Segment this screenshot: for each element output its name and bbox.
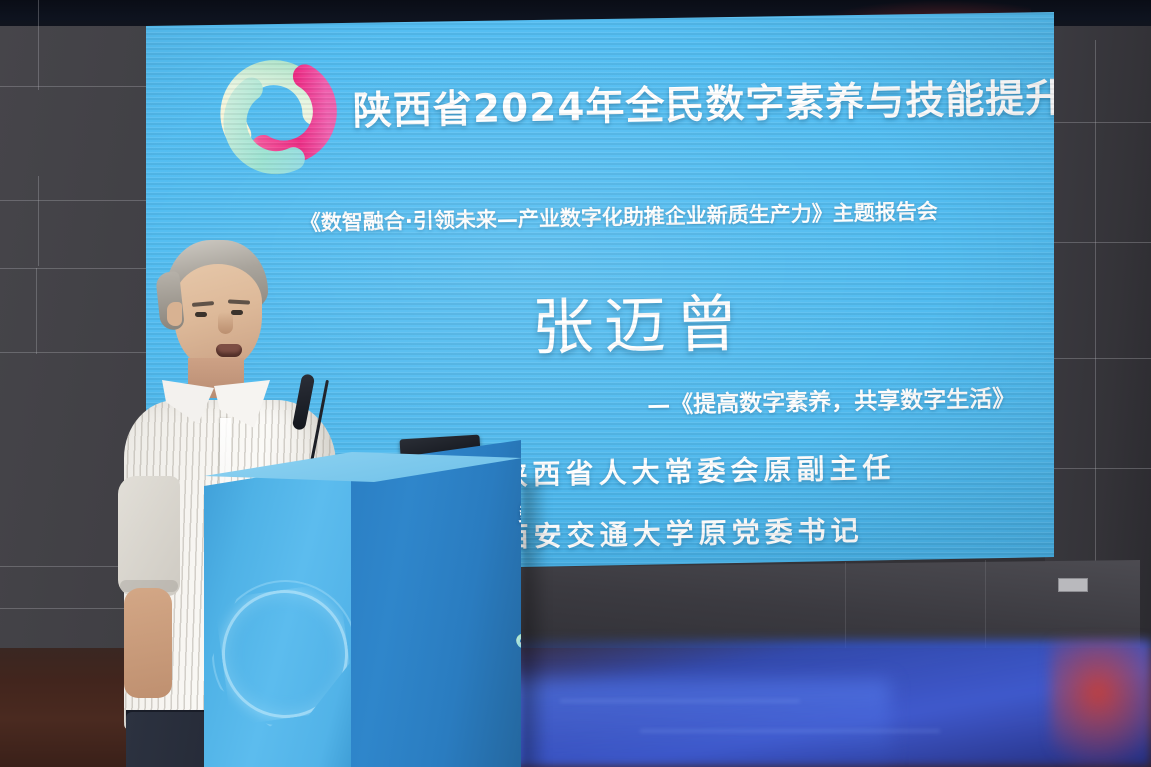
- speaker-eye: [195, 312, 207, 317]
- wall-seam: [0, 200, 148, 201]
- slide-title: 陕西省2024年全民数字素养与技能提升月: [352, 66, 1054, 136]
- wall-seam: [38, 0, 39, 90]
- slide-speaker-name: 张迈曾: [531, 273, 749, 367]
- led-control-box: [1058, 578, 1088, 592]
- podium-face-right: 数字赋能 全民共享: [351, 440, 521, 767]
- floor-light-streak: [640, 730, 940, 732]
- wall-seam: [1054, 468, 1151, 469]
- floor-red-reflection: [1050, 640, 1151, 767]
- wall-seam: [1048, 122, 1151, 123]
- podium-shadow: [522, 480, 548, 767]
- speaker-ear: [167, 302, 182, 326]
- slide-topic: —《提高数字素养，共享数字生活》: [647, 379, 1016, 420]
- wall-seam: [36, 268, 37, 354]
- podium-face-left: [204, 462, 352, 767]
- speaker-mouth: [216, 344, 242, 357]
- conference-stage-scene: 陕西省2024年全民数字素养与技能提升月 《数智融合·引领未来—产业数字化助推企…: [0, 0, 1151, 767]
- wall-seam: [1050, 242, 1151, 243]
- wall-seam: [1052, 358, 1151, 359]
- digital-literacy-ring-logo: [213, 50, 343, 180]
- speaker-sleeve: [118, 476, 180, 596]
- wall-seam: [0, 86, 146, 87]
- speaker-forearm: [124, 588, 172, 698]
- floor-light-streak: [560, 700, 800, 702]
- speaker-eye: [231, 310, 243, 315]
- slide-subtitle: 《数智融合·引领未来—产业数字化助推企业新质生产力》主题报告会: [300, 196, 938, 238]
- wall-seam: [38, 176, 39, 266]
- podium: 数字赋能 全民共享: [204, 440, 574, 767]
- speaker-nose: [218, 312, 233, 334]
